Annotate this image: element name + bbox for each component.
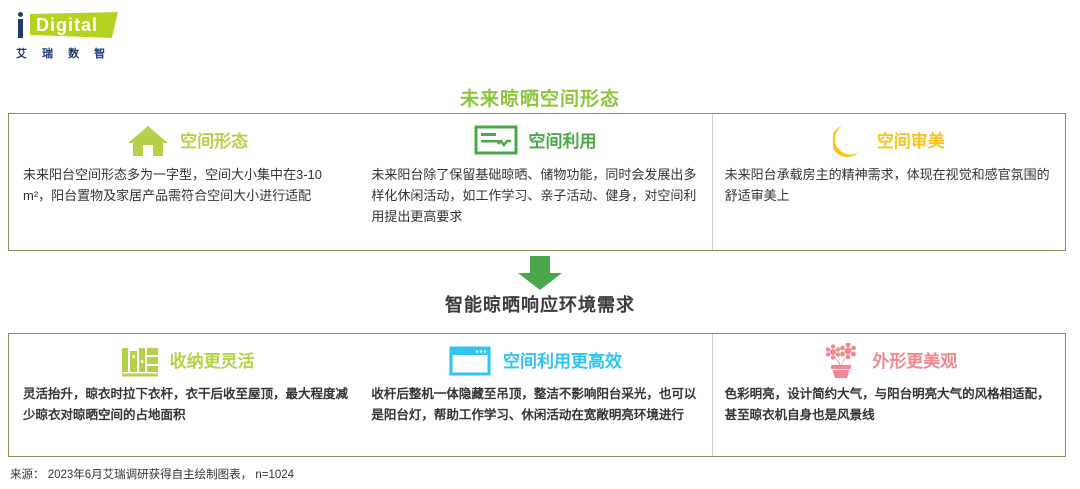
column-title: 空间利用 — [528, 133, 596, 150]
bookshelf-icon — [120, 344, 160, 378]
moon-icon — [833, 123, 867, 159]
column-title: 外形更美观 — [872, 353, 957, 370]
slide-canvas: Digital 艾 瑞 数 智 未来晾晒空间形态 空间形态 未来阳台空间形态多为… — [0, 0, 1080, 489]
logo-subtitle: 艾 瑞 数 智 — [16, 45, 111, 61]
bottom-column-efficiency: 空间利用更高效 收杆后整机一体隐藏至吊顶，整洁不影响阳台采光，也可以是阳台灯，帮… — [359, 334, 711, 456]
column-body: 收杆后整机一体隐藏至吊顶，整洁不影响阳台采光，也可以是阳台灯，帮助工作学习、休闲… — [367, 384, 703, 426]
house-icon — [126, 123, 170, 159]
column-header: 收纳更灵活 — [19, 338, 355, 384]
logo: Digital 艾 瑞 数 智 — [14, 12, 134, 62]
top-panel: 空间形态 未来阳台空间形态多为一字型，空间大小集中在3-10 m²，阳台置物及家… — [8, 113, 1066, 251]
window-lines-icon — [474, 125, 518, 157]
column-body: 色彩明亮，设计简约大气，与阳台明亮大气的风格相适配，甚至晾衣机自身也是风景线 — [721, 384, 1057, 426]
browser-window-icon — [449, 344, 493, 378]
source-note: 来源： 2023年6月艾瑞调研获得自主绘制图表， n=1024 — [10, 466, 294, 482]
column-body: 未来阳台承载房主的精神需求，体现在视觉和感官氛围的舒适审美上 — [721, 164, 1057, 206]
column-body: 未来阳台除了保留基础晾晒、储物功能，同时会发展出多样化休闲活动，如工作学习、亲子… — [367, 164, 703, 227]
logo-mark: Digital — [14, 12, 118, 40]
down-arrow-icon — [516, 256, 564, 290]
bottom-column-appearance: 外形更美观 色彩明亮，设计简约大气，与阳台明亮大气的风格相适配，甚至晾衣机自身也… — [712, 334, 1065, 456]
bottom-column-storage: 收纳更灵活 灵活抬升，晾衣时拉下衣杆，衣干后收至屋顶，最大程度减少晾衣对晾晒空间… — [9, 334, 359, 456]
top-column-space-aesthetic: 空间审美 未来阳台承载房主的精神需求，体现在视觉和感官氛围的舒适审美上 — [712, 114, 1065, 250]
column-header: 空间审美 — [721, 118, 1057, 164]
column-header: 空间形态 — [19, 118, 355, 164]
column-body: 未来阳台空间形态多为一字型，空间大小集中在3-10 m²，阳台置物及家居产品需符… — [19, 164, 355, 206]
column-title: 空间形态 — [180, 133, 248, 150]
column-body: 灵活抬升，晾衣时拉下衣杆，衣干后收至屋顶，最大程度减少晾衣对晾晒空间的占地面积 — [19, 384, 355, 426]
section-subtitle: 智能晾晒响应环境需求 — [0, 291, 1080, 317]
logo-wordmark: Digital — [36, 15, 98, 35]
potted-flower-icon — [820, 343, 862, 379]
column-header: 空间利用 — [367, 118, 703, 164]
logo-i-bar-icon — [18, 19, 23, 38]
page-title: 未来晾晒空间形态 — [0, 84, 1080, 111]
column-title: 收纳更灵活 — [170, 353, 255, 370]
top-column-space-use: 空间利用 未来阳台除了保留基础晾晒、储物功能，同时会发展出多样化休闲活动，如工作… — [359, 114, 711, 250]
logo-i-dot-icon — [18, 12, 23, 17]
column-title: 空间利用更高效 — [503, 353, 622, 370]
bottom-panel: 收纳更灵活 灵活抬升，晾衣时拉下衣杆，衣干后收至屋顶，最大程度减少晾衣对晾晒空间… — [8, 333, 1066, 457]
column-header: 外形更美观 — [721, 338, 1057, 384]
column-header: 空间利用更高效 — [367, 338, 703, 384]
column-title: 空间审美 — [877, 133, 945, 150]
top-column-space-form: 空间形态 未来阳台空间形态多为一字型，空间大小集中在3-10 m²，阳台置物及家… — [9, 114, 359, 250]
